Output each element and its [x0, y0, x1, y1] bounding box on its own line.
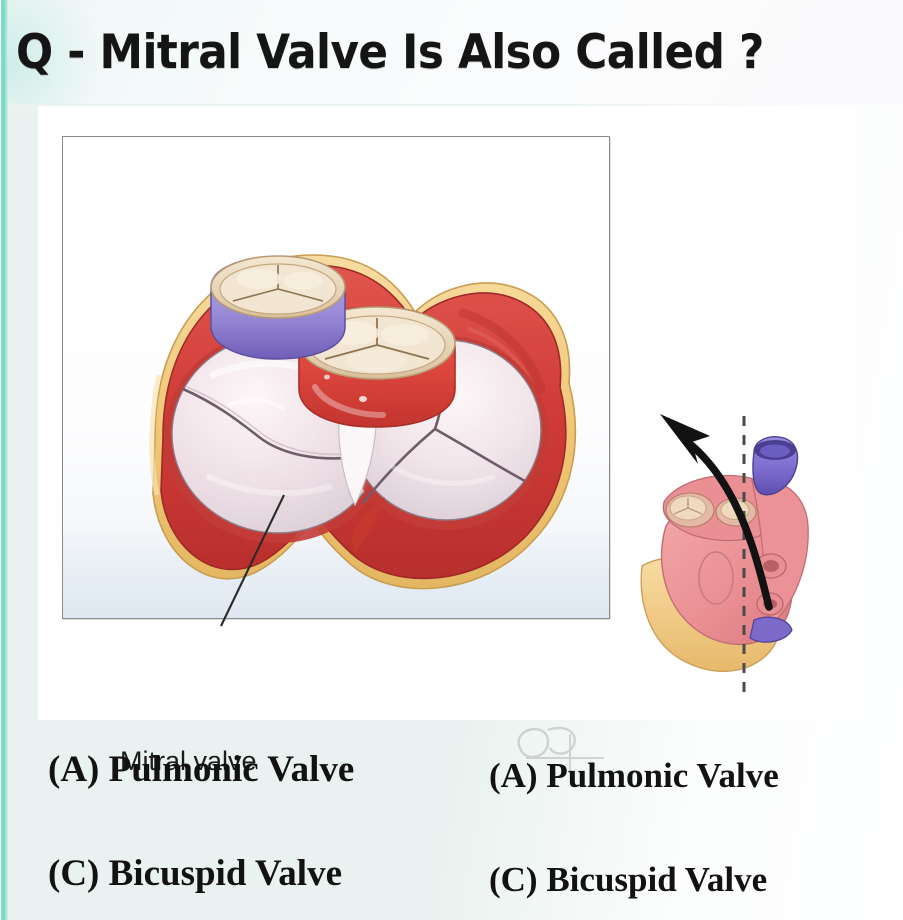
orientation-arrow-icon: [648, 402, 798, 612]
option-c-right[interactable]: (C) Bicuspid Valve: [489, 860, 767, 900]
answer-options: (A) Pulmonic Valve (C) Bicuspid Valve (A…: [0, 720, 903, 920]
option-a-right[interactable]: (A) Pulmonic Valve: [489, 756, 779, 796]
figure-card: Mitral valve: [38, 106, 856, 720]
quiz-card-root: Q - Mitral Valve Is Also Called ?: [0, 0, 903, 920]
option-c-left[interactable]: (C) Bicuspid Valve: [48, 852, 342, 895]
question-title: Q - Mitral Valve Is Also Called ?: [16, 25, 764, 80]
option-a-left[interactable]: (A) Pulmonic Valve: [48, 748, 354, 791]
question-header: Q - Mitral Valve Is Also Called ?: [8, 0, 903, 104]
